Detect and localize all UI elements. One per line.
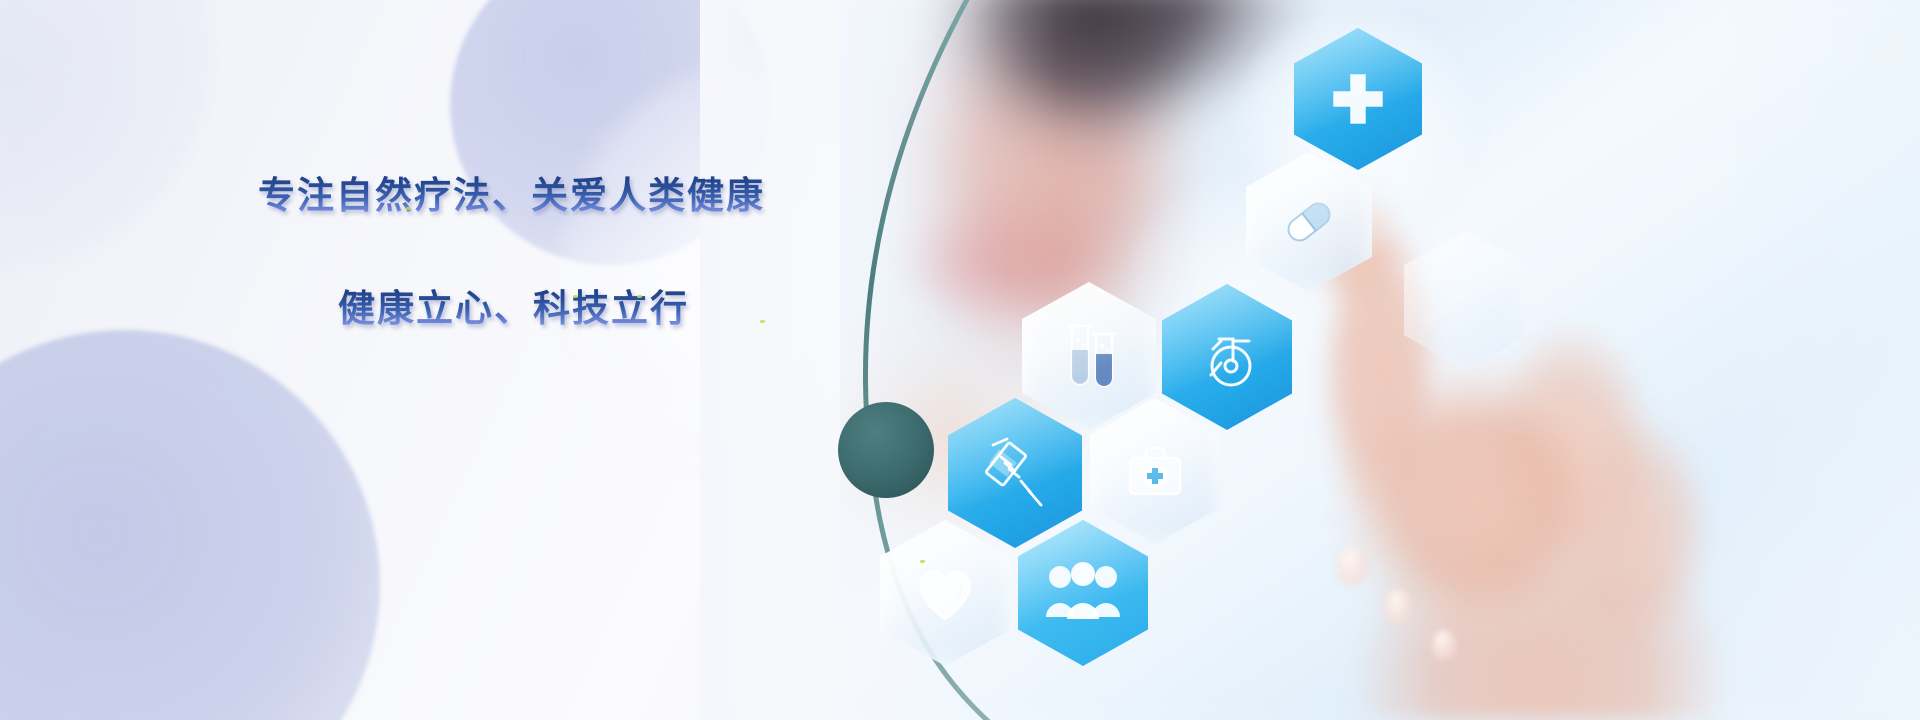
green-speck [573, 295, 578, 298]
green-speck [920, 560, 925, 563]
hexagon-people[interactable] [1018, 520, 1148, 666]
green-speck [406, 207, 411, 210]
hexagon-heart[interactable] [880, 520, 1010, 666]
green-speck [760, 320, 765, 323]
heart-icon [909, 559, 981, 627]
syringe-icon [975, 433, 1055, 513]
headline-line-2: 健康立心、科技立行 [338, 289, 898, 330]
hexagon-syringe[interactable] [948, 398, 1082, 548]
test-tubes-icon [1052, 316, 1126, 396]
wheelchair-icon [1189, 319, 1265, 395]
hexagon-cluster [0, 0, 1920, 720]
medical-bag-icon [1118, 434, 1192, 508]
headline-block: 专注自然疗法、关爱人类健康 健康立心、科技立行 [258, 176, 898, 329]
hexagon-partial-right [1404, 230, 1528, 370]
people-group-icon [1044, 561, 1122, 625]
green-speck [637, 295, 642, 298]
pill-capsule-icon [1274, 187, 1344, 257]
headline-line-1: 专注自然疗法、关爱人类健康 [258, 176, 898, 217]
hero-banner: 专注自然疗法、关爱人类健康 健康立心、科技立行 [0, 0, 1920, 720]
hexagon-medicalbag[interactable] [1090, 398, 1220, 544]
hexagon-highlight [1404, 230, 1528, 370]
medical-cross-icon [1326, 67, 1390, 131]
